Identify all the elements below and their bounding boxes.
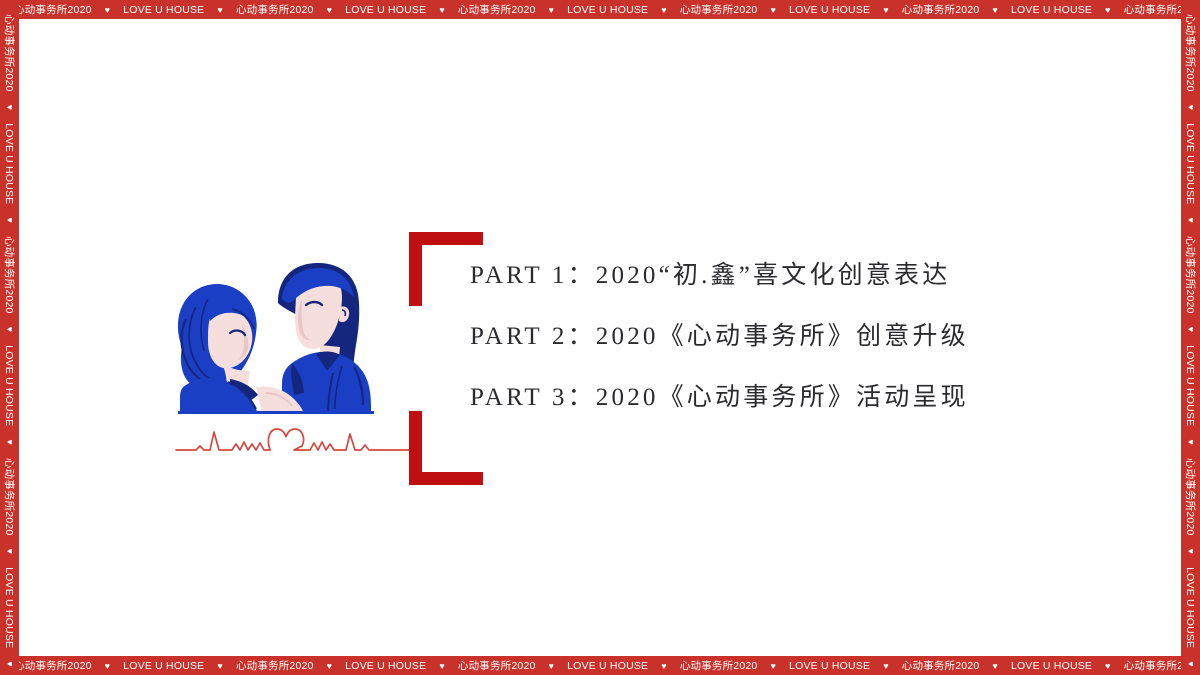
ribbon-brand-en: LOVE U HOUSE — [123, 4, 204, 16]
ribbon-brand-cn: 心动事务所2020 — [680, 2, 758, 17]
bracket-vertical-bar — [409, 232, 422, 306]
heart-icon: ♥ — [439, 661, 445, 671]
heart-icon: ♥ — [883, 661, 889, 671]
heart-icon: ♥ — [1105, 661, 1111, 671]
toc-item-part-1[interactable]: PART 1：2020“初.鑫”喜文化创意表达 — [470, 263, 1070, 288]
ribbon-border-left: 心动事务所2020♥LOVE U HOUSE♥心动事务所2020♥LOVE U … — [0, 0, 19, 675]
ribbon-brand-cn: 心动事务所2020 — [236, 2, 314, 17]
heart-icon: ♥ — [1186, 549, 1196, 555]
heart-icon: ♥ — [770, 5, 776, 15]
presentation-slide: 心动事务所2020♥LOVE U HOUSE♥心动事务所2020♥LOVE U … — [0, 0, 1200, 675]
ribbon-brand-en: LOVE U HOUSE — [345, 4, 426, 16]
ribbon-brand-en: LOVE U HOUSE — [567, 660, 648, 672]
ribbon-brand-cn: 心动事务所2020 — [1183, 458, 1198, 536]
ribbon-border-right: 心动事务所2020♥LOVE U HOUSE♥心动事务所2020♥LOVE U … — [1181, 0, 1200, 675]
heart-icon: ♥ — [327, 5, 333, 15]
heart-icon: ♥ — [1186, 439, 1196, 445]
heart-icon: ♥ — [1186, 217, 1196, 223]
couple-embracing-icon — [170, 259, 420, 414]
ribbon-brand-cn: 心动事务所2020 — [14, 658, 92, 673]
ribbon-brand-cn: 心动事务所2020 — [2, 458, 17, 536]
ribbon-brand-en: LOVE U HOUSE — [345, 660, 426, 672]
heart-icon: ♥ — [661, 5, 667, 15]
heart-icon: ♥ — [5, 661, 15, 667]
ribbon-brand-en: LOVE U HOUSE — [789, 660, 870, 672]
ribbon-text-track-top: 心动事务所2020♥LOVE U HOUSE♥心动事务所2020♥LOVE U … — [14, 2, 1200, 17]
heart-icon: ♥ — [1186, 327, 1196, 333]
ribbon-brand-cn: 心动事务所2020 — [902, 2, 980, 17]
ribbon-brand-en: LOVE U HOUSE — [1185, 345, 1197, 426]
heart-icon: ♥ — [217, 5, 223, 15]
ribbon-brand-cn: 心动事务所2020 — [680, 658, 758, 673]
ribbon-brand-cn: 心动事务所2020 — [236, 658, 314, 673]
couple-illustration — [170, 259, 420, 459]
ribbon-text-track-bottom: 心动事务所2020♥LOVE U HOUSE♥心动事务所2020♥LOVE U … — [14, 658, 1200, 673]
heart-icon: ♥ — [549, 661, 555, 671]
heart-icon: ♥ — [327, 661, 333, 671]
ribbon-brand-cn: 心动事务所2020 — [1183, 14, 1198, 92]
ribbon-border-top: 心动事务所2020♥LOVE U HOUSE♥心动事务所2020♥LOVE U … — [0, 0, 1200, 19]
heart-icon: ♥ — [5, 217, 15, 223]
ribbon-brand-cn: 心动事务所2020 — [458, 658, 536, 673]
toc-item-part-2[interactable]: PART 2：2020《心动事务所》创意升级 — [470, 324, 1070, 349]
heart-icon: ♥ — [770, 661, 776, 671]
ribbon-text-track-left: 心动事务所2020♥LOVE U HOUSE♥心动事务所2020♥LOVE U … — [0, 0, 19, 675]
ribbon-brand-en: LOVE U HOUSE — [4, 345, 16, 426]
ribbon-text-track-right: 心动事务所2020♥LOVE U HOUSE♥心动事务所2020♥LOVE U … — [1181, 0, 1200, 675]
ribbon-brand-cn: 心动事务所2020 — [458, 2, 536, 17]
ribbon-brand-en: LOVE U HOUSE — [4, 567, 16, 648]
heart-icon: ♥ — [5, 327, 15, 333]
heart-icon: ♥ — [992, 661, 998, 671]
ribbon-brand-en: LOVE U HOUSE — [4, 123, 16, 204]
corner-bracket-bottom-left — [409, 411, 483, 485]
ribbon-brand-en: LOVE U HOUSE — [1185, 567, 1197, 648]
slide-canvas: PART 1：2020“初.鑫”喜文化创意表达 PART 2：2020《心动事务… — [19, 19, 1181, 656]
ribbon-brand-en: LOVE U HOUSE — [789, 4, 870, 16]
ribbon-brand-cn: 心动事务所2020 — [1183, 236, 1198, 314]
heartbeat-line-icon — [170, 416, 420, 462]
heart-icon: ♥ — [549, 5, 555, 15]
heart-icon: ♥ — [5, 439, 15, 445]
heart-icon: ♥ — [217, 661, 223, 671]
ribbon-brand-cn: 心动事务所2020 — [902, 658, 980, 673]
ribbon-brand-cn: 心动事务所2020 — [2, 14, 17, 92]
bracket-horizontal-bar — [409, 472, 483, 485]
heart-icon: ♥ — [105, 661, 111, 671]
heart-icon: ♥ — [5, 105, 15, 111]
ribbon-brand-cn: 心动事务所2020 — [2, 236, 17, 314]
heart-icon: ♥ — [992, 5, 998, 15]
heart-icon: ♥ — [105, 5, 111, 15]
heart-icon: ♥ — [5, 549, 15, 555]
heart-icon: ♥ — [1186, 661, 1196, 667]
ribbon-brand-en: LOVE U HOUSE — [1011, 4, 1092, 16]
toc-item-part-3[interactable]: PART 3：2020《心动事务所》活动呈现 — [470, 385, 1070, 410]
table-of-contents: PART 1：2020“初.鑫”喜文化创意表达 PART 2：2020《心动事务… — [470, 263, 1070, 410]
ribbon-brand-en: LOVE U HOUSE — [1185, 123, 1197, 204]
heart-icon: ♥ — [1105, 5, 1111, 15]
ribbon-brand-en: LOVE U HOUSE — [1011, 660, 1092, 672]
ribbon-brand-en: LOVE U HOUSE — [567, 4, 648, 16]
ribbon-brand-cn: 心动事务所2020 — [14, 2, 92, 17]
heart-icon: ♥ — [1186, 105, 1196, 111]
heart-icon: ♥ — [661, 661, 667, 671]
heart-icon: ♥ — [883, 5, 889, 15]
heart-icon: ♥ — [439, 5, 445, 15]
ribbon-border-bottom: 心动事务所2020♥LOVE U HOUSE♥心动事务所2020♥LOVE U … — [0, 656, 1200, 675]
ribbon-brand-en: LOVE U HOUSE — [123, 660, 204, 672]
